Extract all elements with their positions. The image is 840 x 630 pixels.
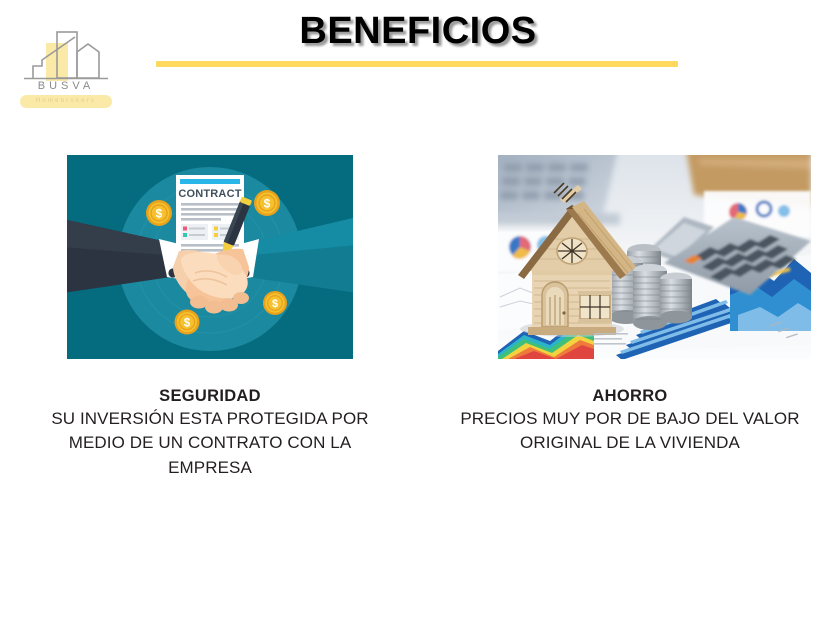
svg-text:$: $ xyxy=(264,197,271,211)
logo-tagline-text: Homebrokers xyxy=(20,95,112,108)
benefit-body: SU INVERSIÓN ESTA PROTEGIDA POR MEDIO DE… xyxy=(0,407,420,479)
svg-text:$: $ xyxy=(156,207,163,221)
benefit-heading: SEGURIDAD xyxy=(0,385,420,407)
handshake-contract-illustration: CONTRACT xyxy=(67,155,353,359)
svg-text:$: $ xyxy=(272,298,278,310)
busva-logo: BUSVA Homebrokers xyxy=(12,22,120,106)
benefit-caption-seguridad: SEGURIDAD SU INVERSIÓN ESTA PROTEGIDA PO… xyxy=(0,385,420,480)
benefit-caption-ahorro: AHORRO PRECIOS MUY POR DE BAJO DEL VALOR… xyxy=(420,385,840,456)
benefit-card-ahorro: AHORRO PRECIOS MUY POR DE BAJO DEL VALOR… xyxy=(420,155,840,456)
svg-text:$: $ xyxy=(184,317,191,329)
svg-text:CONTRACT: CONTRACT xyxy=(178,188,241,200)
benefit-heading: AHORRO xyxy=(420,385,840,407)
logo-brand-text: BUSVA xyxy=(12,80,120,92)
buildings-outline-icon xyxy=(12,22,120,106)
page-title: BENEFICIOS xyxy=(156,12,680,52)
logo-tagline-pill: Homebrokers xyxy=(20,95,112,108)
title-underline-rule xyxy=(156,61,678,67)
house-model-savings-photo xyxy=(498,155,811,359)
benefit-card-seguridad: CONTRACT xyxy=(0,155,420,480)
benefit-body: PRECIOS MUY POR DE BAJO DEL VALOR ORIGIN… xyxy=(420,407,840,455)
